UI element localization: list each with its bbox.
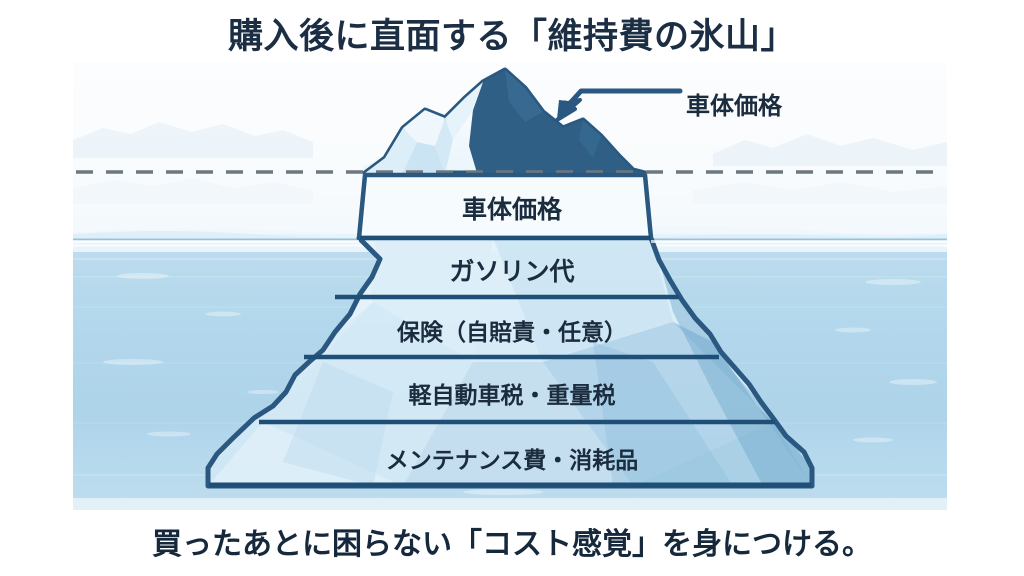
iceberg-illustration bbox=[73, 62, 947, 510]
iceberg-band-above bbox=[359, 175, 651, 238]
bottom-fade bbox=[73, 498, 947, 510]
infographic-canvas: 購入後に直面する「維持費の氷山」 bbox=[0, 0, 1024, 576]
footer-message: 買ったあとに困らない「コスト感覚」を身につける。 bbox=[0, 519, 1024, 563]
page-title: 購入後に直面する「維持費の氷山」 bbox=[0, 8, 1024, 59]
callout-label: 車体価格 bbox=[686, 86, 782, 121]
iceberg-svg bbox=[73, 62, 947, 510]
